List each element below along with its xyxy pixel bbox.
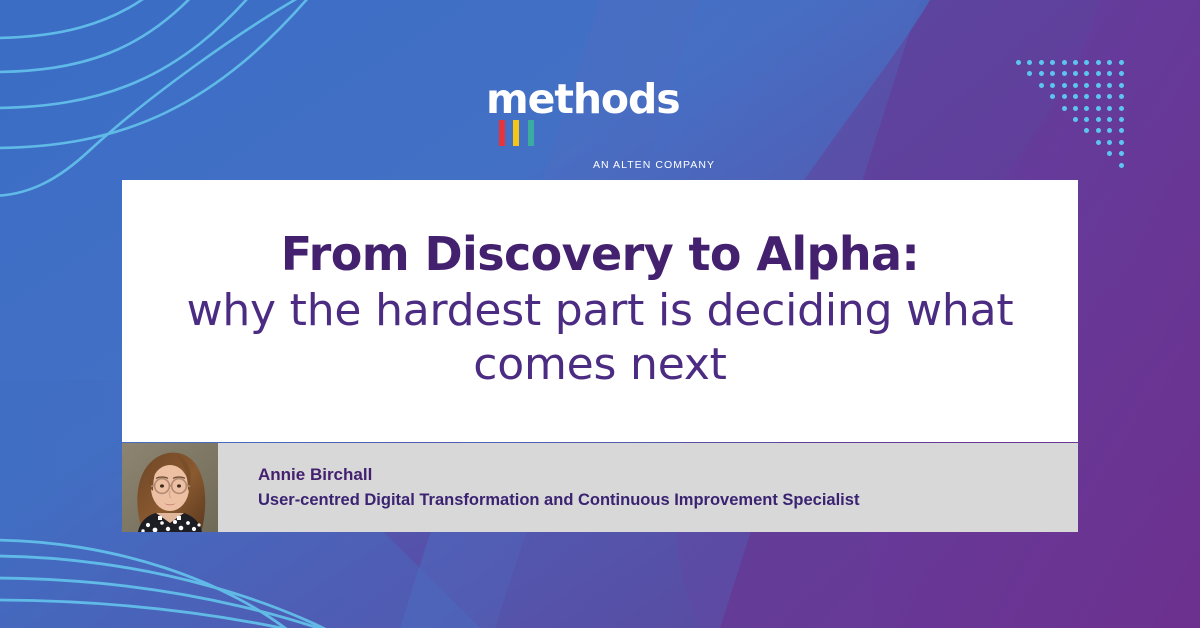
grid-dot — [1062, 60, 1067, 65]
grid-dot — [1039, 71, 1044, 76]
grid-dot — [1119, 151, 1124, 156]
speaker-strip: Annie Birchall User-centred Digital Tran… — [122, 443, 1078, 532]
logo-bar-yellow — [513, 120, 519, 146]
grid-dot — [1107, 117, 1112, 122]
logo-bars-icon — [499, 120, 538, 151]
grid-dot — [1073, 60, 1078, 65]
grid-dot — [1050, 94, 1055, 99]
grid-dot — [1096, 94, 1101, 99]
grid-dot — [1084, 117, 1089, 122]
grid-dot — [1096, 128, 1101, 133]
grid-dot — [1039, 83, 1044, 88]
portrait-photo — [122, 443, 218, 532]
grid-dot — [1107, 83, 1112, 88]
grid-dot — [1096, 60, 1101, 65]
grid-dot — [1096, 83, 1101, 88]
grid-dot — [1107, 128, 1112, 133]
grid-dot — [1084, 128, 1089, 133]
grid-dot — [1119, 60, 1124, 65]
grid-dot — [1039, 60, 1044, 65]
grid-dot — [1084, 106, 1089, 111]
avatar — [122, 443, 218, 532]
grid-dot — [1096, 106, 1101, 111]
speaker-role: User-centred Digital Transformation and … — [258, 488, 859, 513]
grid-dot — [1119, 83, 1124, 88]
grid-dot — [1027, 60, 1032, 65]
grid-dot — [1107, 106, 1112, 111]
logo-tagline: AN ALTEN COMPANY — [486, 159, 716, 171]
grid-dot — [1050, 71, 1055, 76]
dot-grid-decoration — [1016, 60, 1148, 192]
grid-dot — [1050, 60, 1055, 65]
grid-dot — [1107, 140, 1112, 145]
methods-logo: methods AN ALTEN COMPANY — [486, 78, 716, 171]
grid-dot — [1073, 117, 1078, 122]
grid-dot — [1119, 163, 1124, 168]
logo-bar-teal — [528, 120, 534, 146]
grid-dot — [1096, 117, 1101, 122]
grid-dot — [1073, 106, 1078, 111]
title-card: From Discovery to Alpha: why the hardest… — [122, 180, 1078, 442]
grid-dot — [1119, 106, 1124, 111]
grid-dot — [1119, 128, 1124, 133]
grid-dot — [1107, 151, 1112, 156]
speaker-details: Annie Birchall User-centred Digital Tran… — [258, 462, 859, 512]
promo-banner: methods AN ALTEN COMPANY From Discovery … — [0, 0, 1200, 628]
grid-dot — [1062, 71, 1067, 76]
grid-dot — [1119, 140, 1124, 145]
logo-bar-red — [499, 120, 505, 146]
grid-dot — [1073, 94, 1078, 99]
grid-dot — [1062, 94, 1067, 99]
speaker-name: Annie Birchall — [258, 462, 859, 488]
grid-dot — [1050, 83, 1055, 88]
grid-dot — [1084, 71, 1089, 76]
grid-dot — [1119, 71, 1124, 76]
grid-dot — [1073, 71, 1078, 76]
grid-dot — [1096, 71, 1101, 76]
page-subtitle: why the hardest part is deciding what co… — [158, 284, 1042, 391]
grid-dot — [1062, 106, 1067, 111]
grid-dot — [1073, 83, 1078, 88]
grid-dot — [1027, 71, 1032, 76]
logo-wordmark: methods — [486, 78, 680, 120]
grid-dot — [1096, 140, 1101, 145]
grid-dot — [1084, 94, 1089, 99]
grid-dot — [1119, 117, 1124, 122]
grid-dot — [1119, 94, 1124, 99]
grid-dot — [1062, 83, 1067, 88]
grid-dot — [1107, 71, 1112, 76]
grid-dot — [1107, 60, 1112, 65]
grid-dot — [1107, 94, 1112, 99]
grid-dot — [1016, 60, 1021, 65]
grid-dot — [1084, 83, 1089, 88]
page-title: From Discovery to Alpha: — [281, 230, 919, 280]
grid-dot — [1084, 60, 1089, 65]
